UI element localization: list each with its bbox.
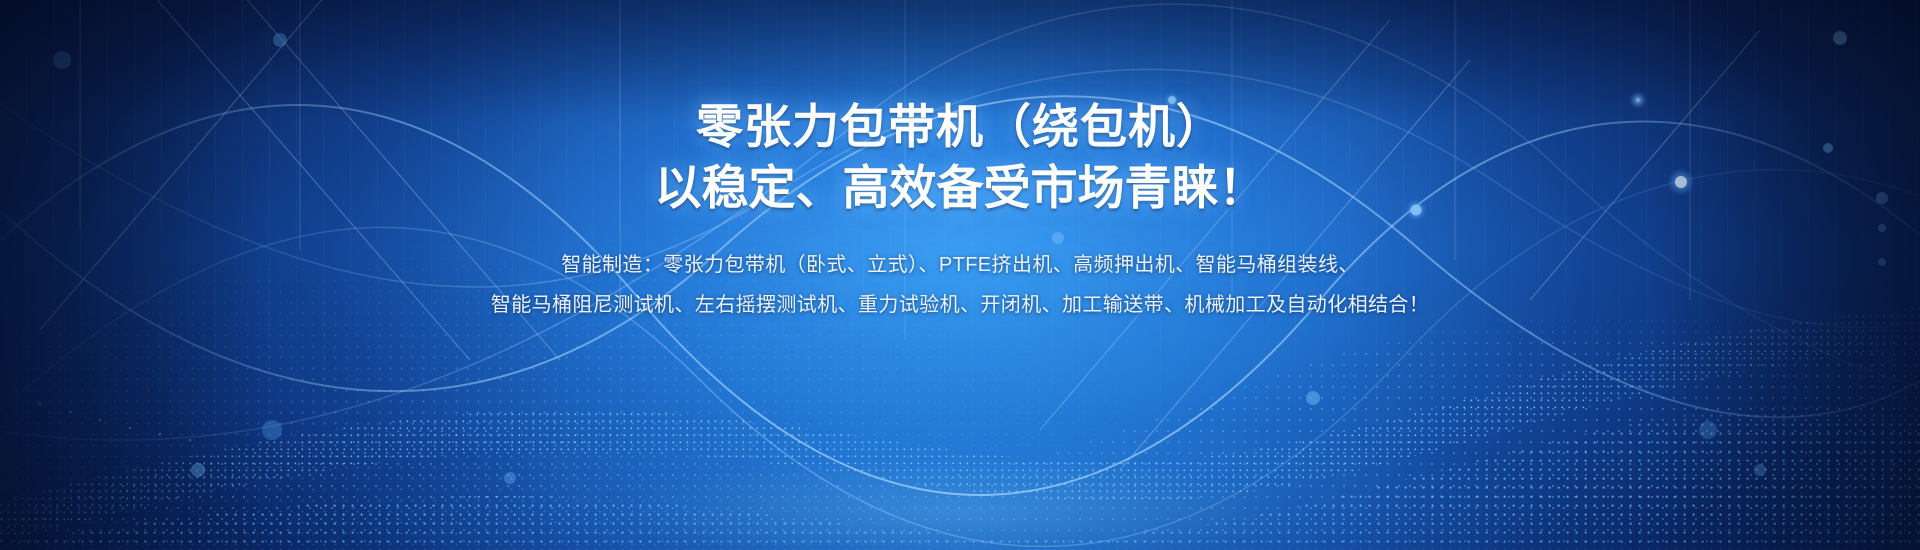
- hero-banner: 零张力包带机（绕包机） 以稳定、高效备受市场青睐！ 智能制造：零张力包带机（卧式…: [0, 0, 1920, 550]
- subtitle-line-1: 智能制造：零张力包带机（卧式、立式）、PTFE挤出机、高频押出机、智能马桶组装线…: [491, 245, 1429, 285]
- banner-headline: 零张力包带机（绕包机） 以稳定、高效备受市场青睐！: [655, 96, 1266, 218]
- banner-subtitle: 智能制造：零张力包带机（卧式、立式）、PTFE挤出机、高频押出机、智能马桶组装线…: [491, 245, 1429, 325]
- banner-content: 零张力包带机（绕包机） 以稳定、高效备受市场青睐！ 智能制造：零张力包带机（卧式…: [0, 0, 1920, 550]
- subtitle-line-2: 智能马桶阻尼测试机、左右摇摆测试机、重力试验机、开闭机、加工输送带、机械加工及自…: [491, 285, 1429, 325]
- headline-line-1: 零张力包带机（绕包机）: [655, 96, 1266, 157]
- headline-line-2: 以稳定、高效备受市场青睐！: [655, 157, 1266, 218]
